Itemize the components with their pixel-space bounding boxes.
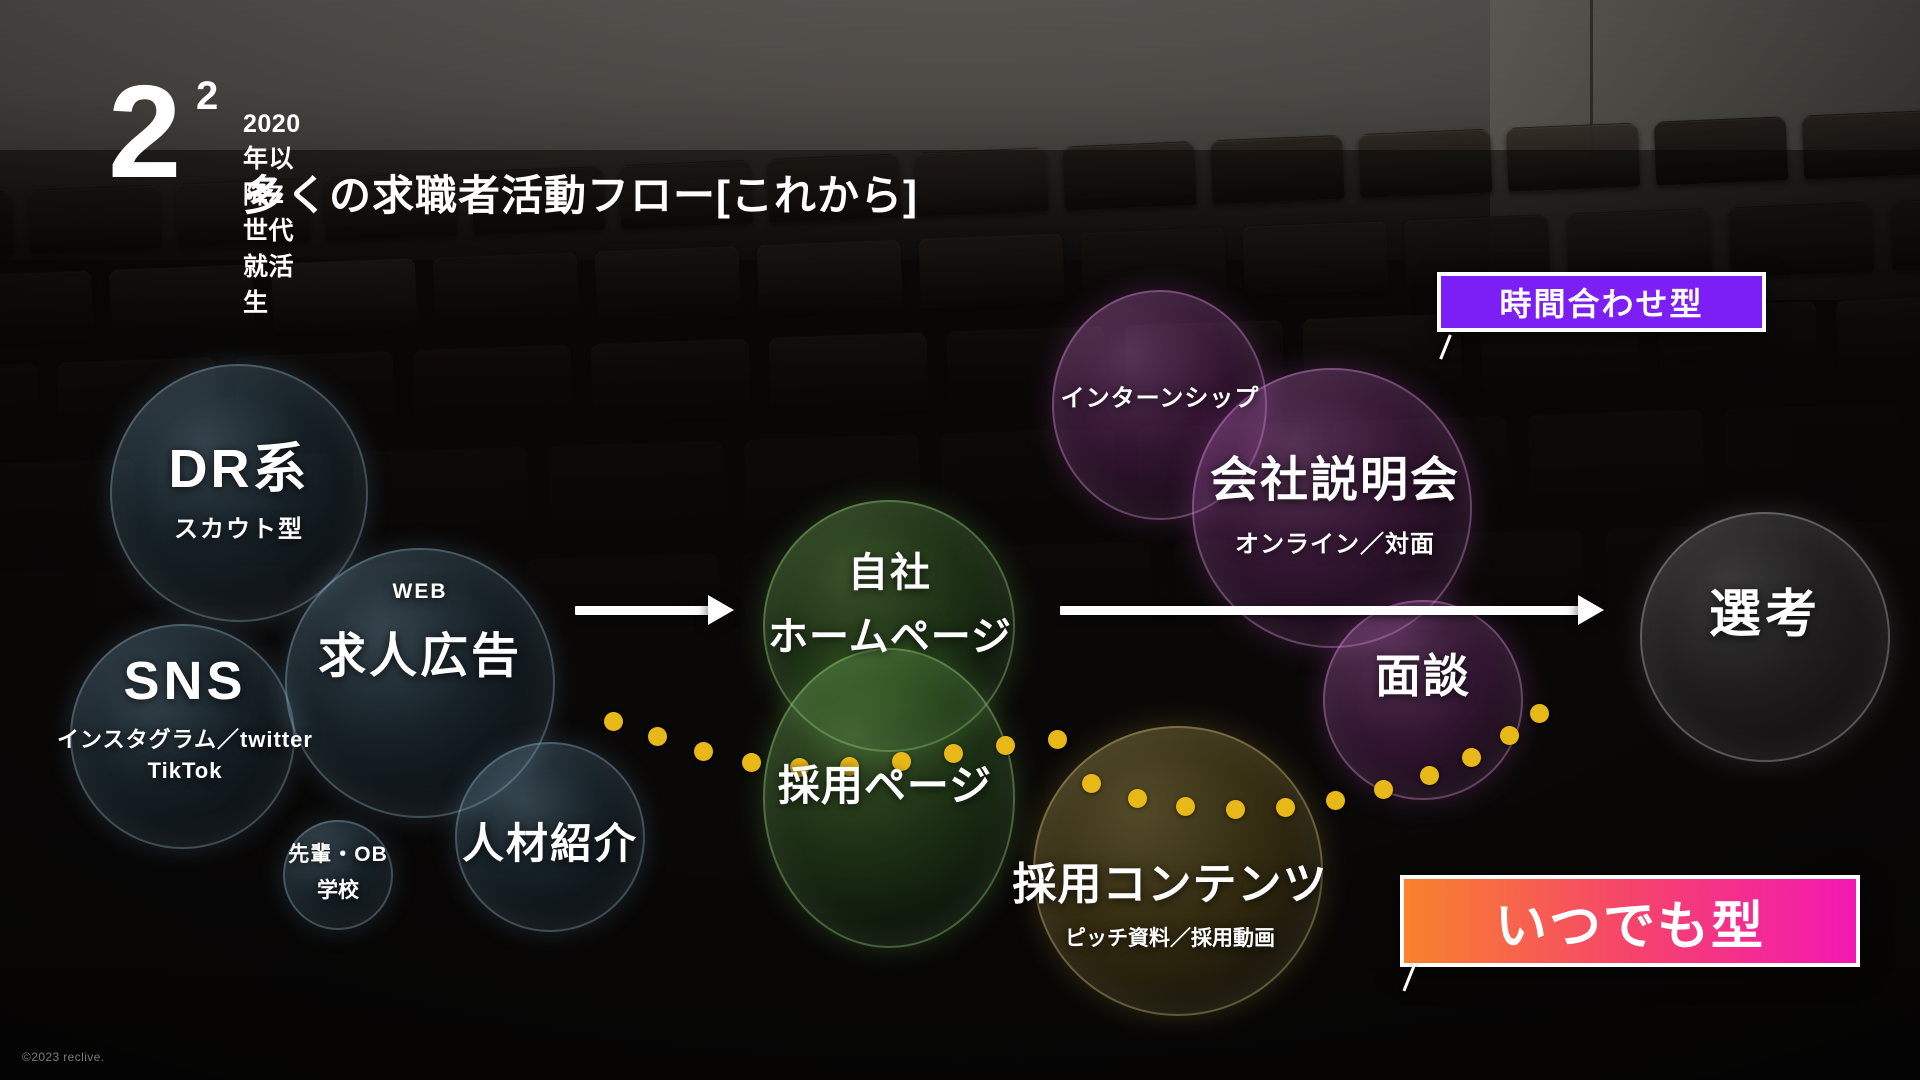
label-recruitpage: 採用ページ [720, 752, 1050, 813]
label-senior-line-1: 先輩・OB [258, 838, 418, 868]
dotted-path-dot [1048, 730, 1067, 749]
dotted-path-dot [648, 727, 667, 746]
label-dr-subtitle: スカウト型 [110, 509, 368, 544]
label-recruitpage-title: 採用ページ [720, 752, 1050, 813]
label-jobad-top: WEB [285, 580, 555, 604]
label-content-title: 採用コンテンツ [930, 848, 1410, 912]
arrow-line-right [1060, 606, 1585, 615]
dotted-path-dot [1226, 800, 1245, 819]
badge-anytime-type[interactable]: いつでも型 [1400, 875, 1860, 967]
label-agency-title: 人材紹介 [440, 810, 660, 871]
dotted-path-dot [1500, 726, 1519, 745]
copyright-notice: ©2023 reclive. [22, 1050, 104, 1064]
label-senior-line-2: 学校 [258, 874, 418, 904]
label-content-subtitle: ピッチ資料／採用動画 [930, 922, 1410, 952]
label-internship-title: インターンシップ [1020, 378, 1300, 413]
dotted-path-dot [1128, 789, 1147, 808]
arrow-head-right [1578, 595, 1604, 625]
dotted-path-dot [1420, 766, 1439, 785]
badge-scheduled-type[interactable]: 時間合わせ型 [1437, 272, 1766, 332]
label-content: 採用コンテンツ ピッチ資料／採用動画 [930, 848, 1410, 952]
slide-canvas: 2 2 2020年以降Z世代就活生 多くの求職者活動フロー[これから] DR系 … [0, 0, 1920, 1080]
dotted-path-dot [1462, 748, 1481, 767]
dotted-path-dot [1374, 780, 1393, 799]
dotted-path-dot [1326, 791, 1345, 810]
arrow-line-left [575, 606, 715, 615]
dotted-path-dot [1082, 774, 1101, 793]
label-homepage-line-2: ホームページ [715, 604, 1065, 662]
label-briefing-subtitle: オンライン／対面 [1150, 524, 1520, 559]
dotted-path-dot [1176, 797, 1195, 816]
dotted-path-dot [604, 712, 623, 731]
dotted-path-dot [694, 742, 713, 761]
label-homepage: 自社 ホームページ [715, 540, 1065, 662]
label-internship: インターンシップ [1020, 378, 1300, 413]
label-jobad: WEB 求人広告 [285, 580, 555, 686]
label-senior: 先輩・OB 学校 [258, 838, 418, 904]
label-briefing-title: 会社説明会 [1150, 440, 1520, 510]
label-agency: 人材紹介 [440, 810, 660, 871]
label-briefing: 会社説明会 オンライン／対面 [1150, 440, 1520, 559]
dotted-path-dot [1530, 704, 1549, 723]
label-homepage-line-1: 自社 [715, 540, 1065, 598]
label-dr-title: DR系 [110, 424, 368, 503]
label-dr: DR系 スカウト型 [110, 424, 368, 544]
label-selection: 選考 [1640, 572, 1890, 647]
section-number: 2 [108, 78, 179, 186]
label-selection-title: 選考 [1640, 572, 1890, 647]
label-interview-title: 面談 [1323, 640, 1523, 706]
label-jobad-title: 求人広告 [285, 616, 555, 686]
label-sns-subtitle-1: インスタグラム／twitter [40, 722, 330, 754]
page-title: 多くの求職者活動フロー[これから] [243, 162, 918, 223]
section-number-superscript: 2 [196, 74, 218, 119]
label-interview: 面談 [1323, 640, 1523, 706]
label-sns-subtitle-2: TikTok [40, 758, 330, 784]
dotted-path-dot [1276, 798, 1295, 817]
